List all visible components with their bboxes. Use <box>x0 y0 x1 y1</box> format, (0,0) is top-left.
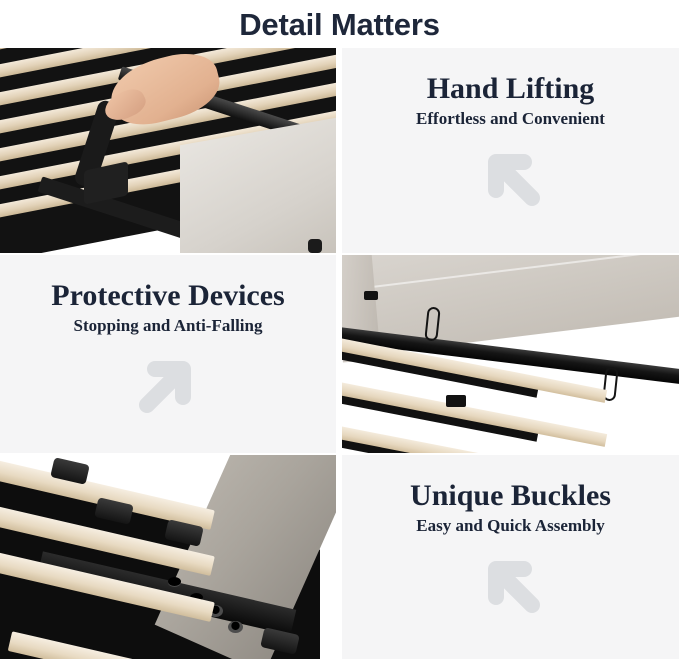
feature-subheading: Effortless and Convenient <box>416 109 605 129</box>
feature-unique-buckles: Unique Buckles Easy and Quick Assembly <box>342 455 679 659</box>
scene-center-rail-buckles <box>342 255 679 453</box>
photo-slat-caps <box>0 455 336 659</box>
arrow-up-right-icon <box>133 349 203 419</box>
arrow-up-left-icon <box>476 549 546 619</box>
rail-hole <box>168 577 181 586</box>
scene-slat-caps <box>0 455 336 659</box>
detail-matters-infographic: Detail Matters <box>0 0 679 659</box>
bed-leg <box>308 239 322 253</box>
page-title: Detail Matters <box>239 9 440 40</box>
arrow-up-left-icon <box>476 142 546 212</box>
feature-grid: Hand Lifting Effortless and Convenient P… <box>0 48 679 659</box>
scene-hand-lifting <box>0 48 336 253</box>
slat-clip <box>446 395 466 407</box>
headboard-clip <box>364 291 378 300</box>
feature-subheading: Stopping and Anti-Falling <box>74 316 263 336</box>
page-title-bar: Detail Matters <box>0 0 679 48</box>
photo-hand-lifting <box>0 48 336 253</box>
feature-hand-lifting: Hand Lifting Effortless and Convenient <box>342 48 679 253</box>
feature-subheading: Easy and Quick Assembly <box>416 516 604 536</box>
feature-heading: Protective Devices <box>51 279 284 313</box>
photo-center-rail-buckles <box>342 255 679 453</box>
rail-grommet <box>228 621 243 633</box>
feature-protective-devices: Protective Devices Stopping and Anti-Fal… <box>0 255 336 453</box>
feature-heading: Unique Buckles <box>410 479 611 513</box>
feature-heading: Hand Lifting <box>427 72 595 106</box>
